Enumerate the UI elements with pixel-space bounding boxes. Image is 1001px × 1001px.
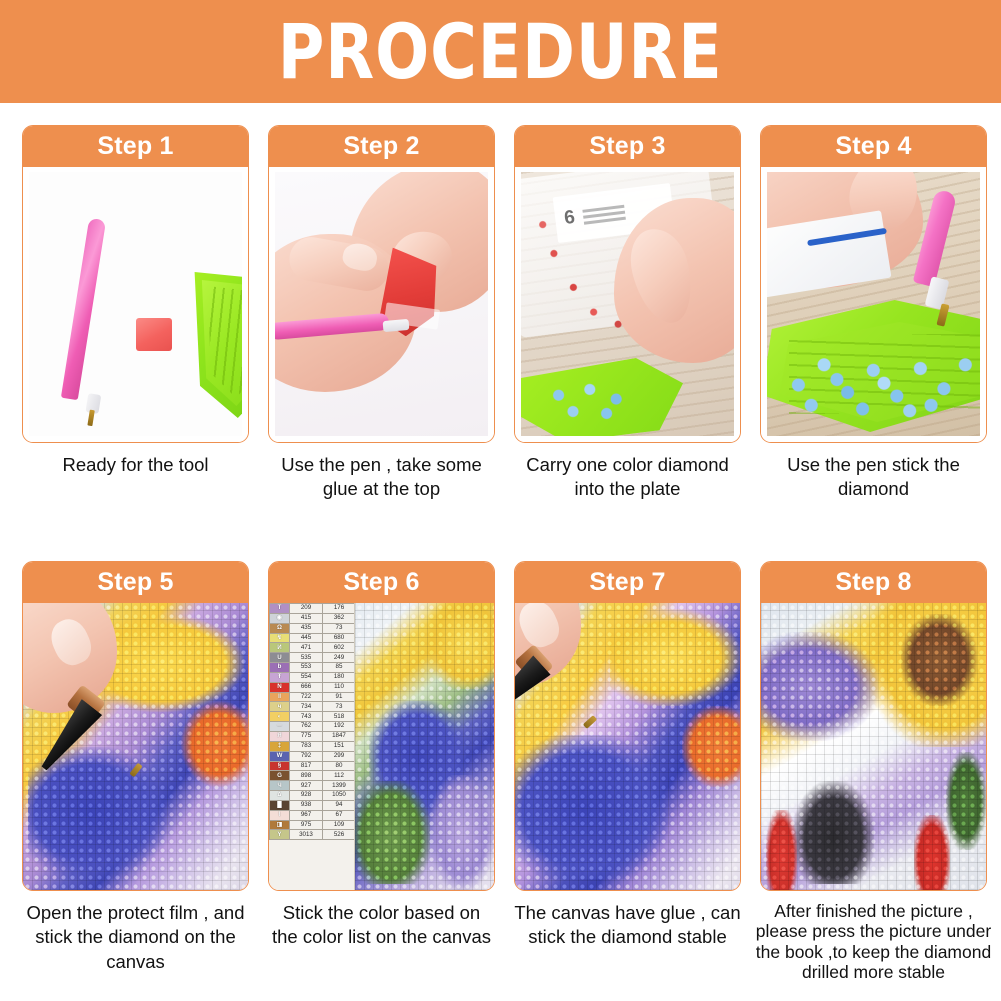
step-header-8: Step 8 [761,562,986,603]
color-code-cell: 927 [290,781,323,791]
color-list-row: G898112 [270,771,356,781]
bead-grid-lines [761,603,986,890]
color-symbol-cell: ∆ [270,791,290,801]
step-card-8: Step 8 [760,561,987,891]
step-header-1: Step 1 [23,126,248,167]
color-code-cell: 928 [290,791,323,801]
color-list-chart: T209176◉415362Ω43573↯445680И471602U53524… [269,603,355,890]
steps-grid: Step 1 [0,103,1001,1001]
glue-clay-icon [136,318,172,351]
mosaic-canvas [761,603,986,890]
step-card-2: Step 2 [268,125,495,443]
color-list-row: T209176 [270,604,356,614]
color-code-cell: 209 [290,604,323,614]
color-symbol-cell: ◐ [270,712,290,722]
color-code-cell: 535 [290,653,323,663]
color-list-row: ◨975109 [270,820,356,830]
color-count-cell: 67 [323,810,356,820]
color-symbol-cell: ◨ [270,820,290,830]
step-card-5: Step 5 [22,561,249,891]
step-card-7: Step 7 [514,561,741,891]
color-list-row: ⌇96767 [270,810,356,820]
bead-grid-lines [355,603,494,890]
color-count-cell: 680 [323,633,356,643]
photo-color-list: T209176◉415362Ω43573↯445680И471602U53524… [269,603,494,890]
step-image-2 [269,167,494,442]
pen-collar-icon [383,319,410,332]
color-list-row: N666110 [270,682,356,692]
color-list-row: Y3013526 [270,830,356,840]
step-cell-2: Step 2 [268,125,495,443]
color-count-cell: 91 [323,692,356,702]
bag-label-lines [582,201,626,227]
step-image-5 [23,603,248,890]
color-count-cell: 85 [323,663,356,673]
color-count-cell: 112 [323,771,356,781]
color-count-cell: 602 [323,643,356,653]
color-code-cell: 967 [290,810,323,820]
step-header-6: Step 6 [269,562,494,603]
color-code-cell: 743 [290,712,323,722]
color-count-cell: 109 [323,820,356,830]
step-image-6: T209176◉415362Ω43573↯445680И471602U53524… [269,603,494,890]
color-list-row: §81780 [270,761,356,771]
color-count-cell: 110 [323,682,356,692]
bag-label-number: 6 [563,207,576,230]
photo-finished-picture [761,603,986,890]
color-code-cell: 445 [290,633,323,643]
step-card-6: Step 6 T209176◉415362Ω43573↯445680И47160… [268,561,495,891]
color-code-cell: 471 [290,643,323,653]
color-symbol-cell: Я [270,731,290,741]
color-list-row: ↯445680 [270,633,356,643]
procedure-infographic: PROCEDURE Step 1 [0,0,1001,1001]
color-symbol-cell: И [270,643,290,653]
step-card-1: Step 1 [22,125,249,443]
color-code-cell: 435 [290,623,323,633]
step-cell-8: Step 8 [760,561,987,891]
color-symbol-cell: b [270,663,290,673]
step-image-3: 6 [515,167,740,442]
color-list-row: Ч9271399 [270,781,356,791]
photo-press-diamond [515,603,740,890]
color-list-row: ‡783151 [270,741,356,751]
color-symbol-cell: G [270,771,290,781]
color-list-row: Ω43573 [270,623,356,633]
color-count-cell: 249 [323,653,356,663]
steps-row-1: Step 1 [0,125,1001,555]
step-header-7: Step 7 [515,562,740,603]
color-code-cell: 783 [290,741,323,751]
color-symbol-cell: ‖ [270,692,290,702]
color-symbol-cell: W [270,751,290,761]
color-list-row: ◉415362 [270,613,356,623]
color-count-cell: 362 [323,613,356,623]
green-tray-icon [191,272,242,418]
color-count-cell: 94 [323,800,356,810]
color-symbol-cell: U [270,653,290,663]
color-list-table: T209176◉415362Ω43573↯445680И471602U53524… [269,603,355,840]
color-list-row: █93894 [270,800,356,810]
step-image-8 [761,603,986,890]
color-symbol-cell: T [270,604,290,614]
color-list-row: ∆9281050 [270,791,356,801]
color-symbol-cell: ч [270,702,290,712]
step-card-3: Step 3 6 [514,125,741,443]
photo-pick-diamond [767,172,980,436]
color-symbol-cell: Ω [270,623,290,633]
color-list-row: Ŧ554180 [270,672,356,682]
step-header-5: Step 5 [23,562,248,603]
color-count-cell: 1050 [323,791,356,801]
step-card-4: Step 4 [760,125,987,443]
color-count-cell: 80 [323,761,356,771]
color-count-cell: 192 [323,722,356,732]
color-list-row: И471602 [270,643,356,653]
color-code-cell: 975 [290,820,323,830]
color-list-row: Я7751847 [270,731,356,741]
step-cell-5: Step 5 [22,561,249,891]
step-header-2: Step 2 [269,126,494,167]
color-list-row: ◐743518 [270,712,356,722]
blue-diamonds [777,328,980,420]
step-caption-6: Stick the color based on the color list … [268,901,495,950]
color-count-cell: 299 [323,751,356,761]
color-list-row: U535249 [270,653,356,663]
color-symbol-cell: ↯ [270,633,290,643]
color-symbol-cell: Ŧ [270,672,290,682]
step-image-1 [23,167,248,442]
step-caption-4: Use the pen stick the diamond [760,453,987,502]
color-list-body: T209176◉415362Ω43573↯445680И471602U53524… [270,604,356,840]
step-caption-7: The canvas have glue , can stick the dia… [514,901,741,950]
color-code-cell: 775 [290,731,323,741]
color-code-cell: 554 [290,672,323,682]
color-code-cell: 3013 [290,830,323,840]
color-symbol-cell: Y [270,830,290,840]
step-image-4 [761,167,986,442]
color-code-cell: 415 [290,613,323,623]
step-caption-8: After finished the picture , please pres… [751,901,996,982]
color-count-cell: 518 [323,712,356,722]
mosaic-canvas [355,603,494,890]
color-symbol-cell: ═ [270,722,290,732]
color-symbol-cell: ⌇ [270,810,290,820]
step-image-7 [515,603,740,890]
step-cell-7: Step 7 [514,561,741,891]
step-caption-5: Open the protect film , and stick the di… [22,901,249,974]
color-list-row: b55385 [270,663,356,673]
photo-stick-canvas [23,603,248,890]
color-count-cell: 526 [323,830,356,840]
color-code-cell: 762 [290,722,323,732]
color-symbol-cell: Ч [270,781,290,791]
color-code-cell: 817 [290,761,323,771]
color-count-cell: 1399 [323,781,356,791]
color-list-row: ‖72291 [270,692,356,702]
mosaic-area [355,603,494,890]
color-count-cell: 73 [323,623,356,633]
color-list-row: W792299 [270,751,356,761]
step-header-4: Step 4 [761,126,986,167]
color-code-cell: 553 [290,663,323,673]
color-symbol-cell: ◉ [270,613,290,623]
color-symbol-cell: N [270,682,290,692]
color-code-cell: 792 [290,751,323,761]
color-code-cell: 734 [290,702,323,712]
step-cell-3: Step 3 6 [514,125,741,443]
step-header-3: Step 3 [515,126,740,167]
color-code-cell: 898 [290,771,323,781]
step-caption-1: Ready for the tool [22,453,249,477]
page-title: PROCEDURE [278,14,723,90]
color-count-cell: 1847 [323,731,356,741]
step-caption-2: Use the pen , take some glue at the top [268,453,495,502]
step-caption-3: Carry one color diamond into the plate [514,453,741,502]
color-list-row: ═762192 [270,722,356,732]
step-cell-1: Step 1 [22,125,249,443]
steps-row-2: Step 5 [0,561,1001,1001]
color-code-cell: 666 [290,682,323,692]
tray-diamonds [537,376,657,424]
color-symbol-cell: ‡ [270,741,290,751]
photo-tool-kit [29,172,242,436]
color-count-cell: 180 [323,672,356,682]
color-count-cell: 176 [323,604,356,614]
pen-metal-tip-icon [87,410,94,427]
color-list-row: ч73473 [270,702,356,712]
color-count-cell: 151 [323,741,356,751]
color-symbol-cell: █ [270,800,290,810]
color-code-cell: 938 [290,800,323,810]
color-list-layout: T209176◉415362Ω43573↯445680И471602U53524… [269,603,494,890]
photo-pour-diamonds: 6 [521,172,734,436]
color-symbol-cell: § [270,761,290,771]
step-cell-4: Step 4 [760,125,987,443]
step-cell-6: Step 6 T209176◉415362Ω43573↯445680И47160… [268,561,495,891]
color-count-cell: 73 [323,702,356,712]
photo-dip-glue [275,172,488,436]
page-banner: PROCEDURE [0,0,1001,103]
color-code-cell: 722 [290,692,323,702]
